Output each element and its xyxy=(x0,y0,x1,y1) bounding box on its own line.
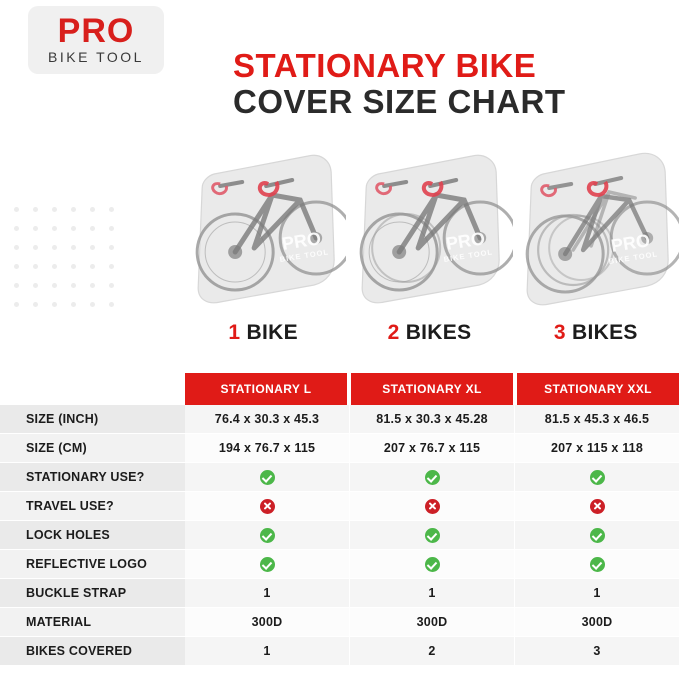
table-row: STATIONARY USE? xyxy=(0,463,679,492)
grid-dot xyxy=(90,302,95,307)
bike-count-1: 1 BIKE xyxy=(180,318,346,348)
table-cell-value: 300D xyxy=(185,608,350,637)
grid-dot xyxy=(109,245,114,250)
grid-dot xyxy=(33,226,38,231)
product-image-3: PRO BIKE TOOL xyxy=(513,140,679,310)
bike-count-3-number: 3 xyxy=(554,321,566,344)
bike-count-row: 1 BIKE 2 BIKES 3 BIKES xyxy=(180,318,679,348)
grid-dot xyxy=(33,302,38,307)
brand-logo: PRO BIKE TOOL xyxy=(28,6,164,74)
bike-cover-illustration-2: PRO BIKE TOOL xyxy=(346,140,512,310)
row-cells: 300D300D300D xyxy=(185,608,679,637)
page-title-line1: STATIONARY BIKE xyxy=(233,48,663,84)
table-cell-icon xyxy=(185,550,350,579)
grid-dot xyxy=(109,264,114,269)
check-circle-icon xyxy=(590,557,605,572)
table-cell-icon xyxy=(350,463,515,492)
table-cell-value: 1 xyxy=(515,579,679,608)
table-cell-icon xyxy=(515,492,679,521)
bike-count-2-number: 2 xyxy=(388,321,400,344)
table-cell-value: 1 xyxy=(350,579,515,608)
check-circle-icon xyxy=(260,470,275,485)
grid-dot xyxy=(52,302,57,307)
grid-dot xyxy=(71,283,76,288)
table-cell-value: 81.5 x 45.3 x 46.5 xyxy=(515,405,679,434)
bike-count-3-label: BIKES xyxy=(572,321,638,344)
table-header-row: STATIONARY L STATIONARY XL STATIONARY XX… xyxy=(185,373,679,405)
column-header-stationary-l: STATIONARY L xyxy=(185,373,347,405)
bike-count-1-label: BIKE xyxy=(247,321,298,344)
table-cell-icon xyxy=(185,463,350,492)
table-cell-value: 76.4 x 30.3 x 45.3 xyxy=(185,405,350,434)
grid-dot xyxy=(33,245,38,250)
grid-dot xyxy=(14,226,19,231)
page-title-line2: COVER SIZE CHART xyxy=(233,84,663,120)
table-cell-value: 207 x 76.7 x 115 xyxy=(350,434,515,463)
table-cell-value: 194 x 76.7 x 115 xyxy=(185,434,350,463)
row-label: REFLECTIVE LOGO xyxy=(0,550,185,579)
table-cell-icon xyxy=(350,521,515,550)
row-label: BIKES COVERED xyxy=(0,637,185,666)
grid-dot xyxy=(71,226,76,231)
grid-dot xyxy=(71,207,76,212)
table-row: TRAVEL USE? xyxy=(0,492,679,521)
brand-logo-sub: BIKE TOOL xyxy=(48,49,144,65)
dot-grid-decoration xyxy=(14,207,128,321)
table-cell-icon xyxy=(515,521,679,550)
table-cell-value: 81.5 x 30.3 x 45.28 xyxy=(350,405,515,434)
grid-dot xyxy=(14,302,19,307)
grid-dot xyxy=(52,245,57,250)
grid-dot xyxy=(90,226,95,231)
check-circle-icon xyxy=(425,557,440,572)
product-image-2: PRO BIKE TOOL xyxy=(346,140,512,310)
table-row: LOCK HOLES xyxy=(0,521,679,550)
page-title: STATIONARY BIKE COVER SIZE CHART xyxy=(233,48,663,119)
row-cells xyxy=(185,550,679,579)
product-image-1: PRO BIKE TOOL xyxy=(180,140,346,310)
row-label: BUCKLE STRAP xyxy=(0,579,185,608)
table-row: BUCKLE STRAP111 xyxy=(0,579,679,608)
grid-dot xyxy=(14,245,19,250)
grid-dot xyxy=(90,283,95,288)
row-cells: 123 xyxy=(185,637,679,666)
table-cell-value: 300D xyxy=(515,608,679,637)
table-cell-icon xyxy=(350,550,515,579)
row-label: SIZE (INCH) xyxy=(0,405,185,434)
grid-dot xyxy=(71,264,76,269)
grid-dot xyxy=(90,245,95,250)
table-cell-icon xyxy=(350,492,515,521)
table-cell-value: 2 xyxy=(350,637,515,666)
row-cells xyxy=(185,521,679,550)
table-cell-value: 300D xyxy=(350,608,515,637)
cross-circle-icon xyxy=(425,499,440,514)
size-comparison-table: STATIONARY L STATIONARY XL STATIONARY XX… xyxy=(0,373,679,666)
table-row: MATERIAL300D300D300D xyxy=(0,608,679,637)
column-header-stationary-xl: STATIONARY XL xyxy=(351,373,513,405)
row-label: MATERIAL xyxy=(0,608,185,637)
grid-dot xyxy=(52,264,57,269)
table-body: SIZE (INCH)76.4 x 30.3 x 45.381.5 x 30.3… xyxy=(0,405,679,666)
bike-cover-illustration-1: PRO BIKE TOOL xyxy=(180,140,346,310)
table-row: BIKES COVERED123 xyxy=(0,637,679,666)
check-circle-icon xyxy=(260,557,275,572)
row-cells: 111 xyxy=(185,579,679,608)
grid-dot xyxy=(52,226,57,231)
bike-count-2-label: BIKES xyxy=(406,321,472,344)
grid-dot xyxy=(109,226,114,231)
table-row: REFLECTIVE LOGO xyxy=(0,550,679,579)
table-cell-icon xyxy=(515,463,679,492)
table-cell-value: 207 x 115 x 118 xyxy=(515,434,679,463)
table-row: SIZE (CM)194 x 76.7 x 115207 x 76.7 x 11… xyxy=(0,434,679,463)
grid-dot xyxy=(52,207,57,212)
row-cells: 76.4 x 30.3 x 45.381.5 x 30.3 x 45.2881.… xyxy=(185,405,679,434)
grid-dot xyxy=(90,264,95,269)
grid-dot xyxy=(109,207,114,212)
size-chart-page: PRO BIKE TOOL STATIONARY BIKE COVER SIZE… xyxy=(0,0,679,678)
row-cells xyxy=(185,492,679,521)
grid-dot xyxy=(71,302,76,307)
column-header-stationary-xxl: STATIONARY XXL xyxy=(517,373,679,405)
row-label: TRAVEL USE? xyxy=(0,492,185,521)
bike-count-1-number: 1 xyxy=(228,321,240,344)
table-row: SIZE (INCH)76.4 x 30.3 x 45.381.5 x 30.3… xyxy=(0,405,679,434)
cross-circle-icon xyxy=(590,499,605,514)
brand-logo-main: PRO xyxy=(58,15,135,47)
table-cell-value: 1 xyxy=(185,579,350,608)
grid-dot xyxy=(14,207,19,212)
row-cells xyxy=(185,463,679,492)
bike-count-2: 2 BIKES xyxy=(346,318,512,348)
check-circle-icon xyxy=(425,470,440,485)
bike-cover-illustration-3: PRO BIKE TOOL xyxy=(513,140,679,310)
table-cell-value: 1 xyxy=(185,637,350,666)
cross-circle-icon xyxy=(260,499,275,514)
bike-count-3: 3 BIKES xyxy=(513,318,679,348)
table-cell-icon xyxy=(185,521,350,550)
row-label: SIZE (CM) xyxy=(0,434,185,463)
product-image-row: PRO BIKE TOOL PRO xyxy=(180,140,679,310)
row-cells: 194 x 76.7 x 115207 x 76.7 x 115207 x 11… xyxy=(185,434,679,463)
grid-dot xyxy=(71,245,76,250)
grid-dot xyxy=(14,264,19,269)
row-label: LOCK HOLES xyxy=(0,521,185,550)
grid-dot xyxy=(52,283,57,288)
grid-dot xyxy=(33,207,38,212)
check-circle-icon xyxy=(590,470,605,485)
table-cell-icon xyxy=(515,550,679,579)
grid-dot xyxy=(90,207,95,212)
check-circle-icon xyxy=(260,528,275,543)
grid-dot xyxy=(109,283,114,288)
check-circle-icon xyxy=(590,528,605,543)
table-cell-icon xyxy=(185,492,350,521)
table-cell-value: 3 xyxy=(515,637,679,666)
grid-dot xyxy=(33,283,38,288)
grid-dot xyxy=(109,302,114,307)
grid-dot xyxy=(14,283,19,288)
row-label: STATIONARY USE? xyxy=(0,463,185,492)
grid-dot xyxy=(33,264,38,269)
check-circle-icon xyxy=(425,528,440,543)
